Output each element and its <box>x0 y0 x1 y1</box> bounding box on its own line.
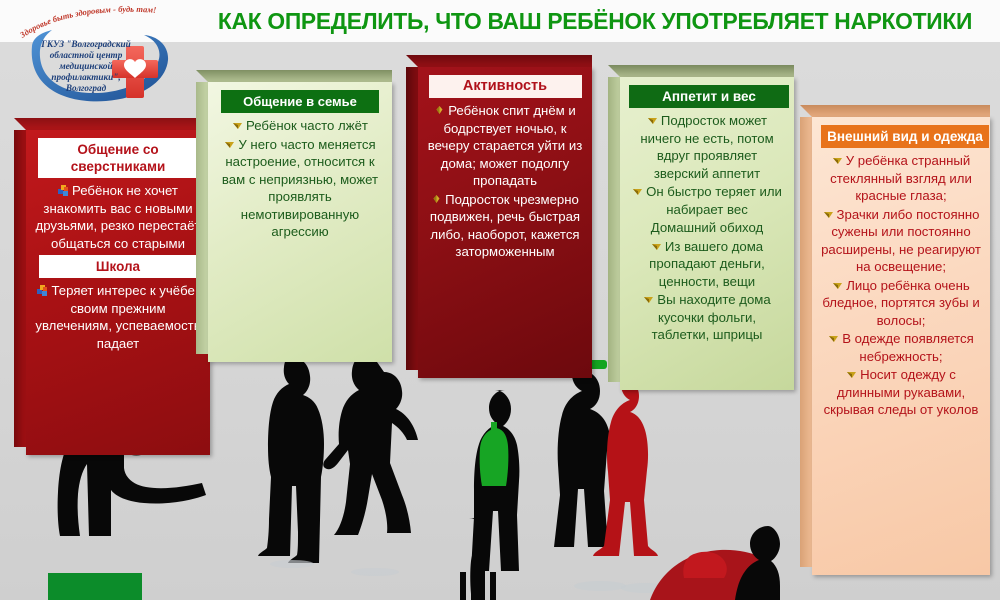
list-item-text: Теряет интерес к учёбе, своим прежним ув… <box>35 283 200 351</box>
panel-peers: Общение со сверстниками Ребёнок не хочет… <box>14 118 210 455</box>
list-item-text: Из вашего дома пропадают деньги, ценност… <box>649 239 765 289</box>
svg-text:Волгоград: Волгоград <box>65 83 107 93</box>
list-item: Теряет интерес к учёбе, своим прежним ув… <box>35 282 201 352</box>
list-item-text: Он быстро теряет или набирает вес <box>646 184 782 217</box>
list-item: Вы находите дома кусочки фольги, таблетк… <box>629 291 785 344</box>
panel-top-bevel <box>196 70 392 82</box>
logo-graphic: Здоровье быть здоровым - будь там! ГКУЗ … <box>8 2 188 108</box>
panel-top-bevel <box>800 105 990 117</box>
panel-body-peers: Ребёнок не хочет знакомить вас с новыми … <box>35 182 201 352</box>
panel-face: Общение со сверстниками Ребёнок не хочет… <box>26 130 210 455</box>
gold-diamond-bullet-icon <box>434 103 445 114</box>
svg-text:профилактики",: профилактики", <box>51 72 120 82</box>
panel-top-bevel <box>406 55 592 67</box>
panel-body-appetite: Подросток может ничего не есть, потом вд… <box>629 112 785 344</box>
panel-activity: Активность Ребёнок спит днём и бодрствуе… <box>406 55 592 378</box>
list-item: Он быстро теряет или набирает вес <box>629 183 785 218</box>
list-item: Подросток чрезмерно подвижен, речь быстр… <box>427 191 583 261</box>
gold-arrow-bullet-icon <box>846 367 857 378</box>
gold-arrow-bullet-icon <box>647 113 658 124</box>
panel-side-bevel <box>608 77 620 382</box>
panel-appetite: Аппетит и вес Подросток может ничего не … <box>608 65 794 390</box>
list-item: В одежде появляется небрежность; <box>821 330 981 365</box>
panel-face: Аппетит и вес Подросток может ничего не … <box>620 77 794 390</box>
list-item: У ребёнка странный стеклянный взгляд или… <box>821 152 981 205</box>
gold-arrow-bullet-icon <box>632 184 643 195</box>
gold-diamond-bullet-icon <box>431 192 442 203</box>
svg-text:областной центр: областной центр <box>50 50 123 60</box>
panel-header-family: Общение в семье <box>221 90 379 113</box>
list-item-text: У него часто меняется настроение, относи… <box>222 137 378 240</box>
panel-header-appetite: Аппетит и вес <box>629 85 789 108</box>
list-item: Носит одежду с длинными рукавами, скрыва… <box>821 366 981 419</box>
colored-squares-bullet-icon <box>37 283 48 294</box>
panel-body-family: Ребёнок часто лжёт У него часто меняется… <box>217 117 383 241</box>
poster-canvas: Здоровье быть здоровым - будь там! ГКУЗ … <box>0 0 1000 600</box>
list-item: Ребёнок спит днём и бодрствует ночью, к … <box>427 102 583 190</box>
list-item: Лицо ребёнка очень бледное, портятся зуб… <box>821 277 981 330</box>
panel-side-bevel <box>800 117 812 567</box>
list-item-text: Подросток может ничего не есть, потом вд… <box>640 113 773 181</box>
small-child-silhouette <box>456 518 500 600</box>
gold-arrow-bullet-icon <box>832 153 843 164</box>
colored-squares-bullet-icon <box>58 183 69 194</box>
list-item: У него часто меняется настроение, относи… <box>217 136 383 241</box>
panel-header-peers: Общение со сверстниками <box>38 138 198 178</box>
panel-top-bevel <box>608 65 794 77</box>
panel-body-appearance: У ребёнка странный стеклянный взгляд или… <box>821 152 981 419</box>
list-item-text: Ребёнок часто лжёт <box>246 118 368 133</box>
panel-family: Общение в семье Ребёнок часто лжёт <box>196 70 392 362</box>
list-item: Зрачки либо постоянно сужены или постоян… <box>821 206 981 276</box>
panel-face: Активность Ребёнок спит днём и бодрствуе… <box>418 67 592 378</box>
standing-teen-girl-silhouette <box>323 352 418 576</box>
list-item-text: В одежде появляется небрежность; <box>842 331 974 364</box>
gold-arrow-bullet-icon <box>232 118 243 129</box>
gold-arrow-bullet-icon <box>643 292 654 303</box>
gold-arrow-bullet-icon <box>224 137 235 148</box>
panel-header-appearance: Внешний вид и одежда <box>821 125 989 148</box>
list-item-text: Ребёнок спит днём и бодрствует ночью, к … <box>428 103 583 188</box>
gold-arrow-bullet-icon <box>651 239 662 250</box>
panel-top-bevel <box>14 118 210 130</box>
standing-teen-boy-silhouette <box>258 348 324 568</box>
list-item: Ребёнок часто лжёт <box>217 117 383 135</box>
list-item: Подросток может ничего не есть, потом вд… <box>629 112 785 182</box>
list-item-text: Подросток чрезмерно подвижен, речь быстр… <box>430 192 580 260</box>
logo-tagline: Здоровье быть здоровым - будь там! <box>17 4 157 41</box>
panel-face: Общение в семье Ребёнок часто лжёт <box>208 82 392 362</box>
panel-side-bevel <box>406 67 418 370</box>
panel-appearance: Внешний вид и одежда У ребёнка странный … <box>800 105 990 575</box>
lying-person-silhouette <box>650 526 780 600</box>
organization-logo: Здоровье быть здоровым - будь там! ГКУЗ … <box>8 2 188 107</box>
list-item: Ребёнок не хочет знакомить вас с новыми … <box>35 182 201 252</box>
svg-text:медицинской: медицинской <box>58 61 112 71</box>
list-item: Из вашего дома пропадают деньги, ценност… <box>629 238 785 291</box>
list-item-text: Лицо ребёнка очень бледное, портятся зуб… <box>822 278 979 328</box>
panel-header-activity: Активность <box>429 75 582 98</box>
gold-arrow-bullet-icon <box>828 331 839 342</box>
panel-face: Внешний вид и одежда У ребёнка странный … <box>812 117 990 575</box>
backpack-student-silhouette <box>471 390 519 571</box>
panel-body-activity: Ребёнок спит днём и бодрствует ночью, к … <box>427 102 583 261</box>
list-item-text: Зрачки либо постоянно сужены или постоян… <box>821 207 981 275</box>
gold-arrow-bullet-icon <box>832 278 843 289</box>
page-title: КАК ОПРЕДЕЛИТЬ, ЧТО ВАШ РЕБЁНОК УПОТРЕБЛ… <box>212 6 978 36</box>
list-item-text: У ребёнка странный стеклянный взгляд или… <box>830 153 972 203</box>
panel-side-bevel <box>14 130 26 447</box>
panel-subheader-school: Школа <box>39 255 197 278</box>
panel-subheader-household: Домашний обиход <box>629 219 785 237</box>
svg-text:ГКУЗ "Волгоградский: ГКУЗ "Волгоградский <box>40 39 130 49</box>
gold-arrow-bullet-icon <box>823 207 834 218</box>
list-item-text: Вы находите дома кусочки фольги, таблетк… <box>652 292 771 342</box>
panel-side-bevel <box>196 82 208 354</box>
